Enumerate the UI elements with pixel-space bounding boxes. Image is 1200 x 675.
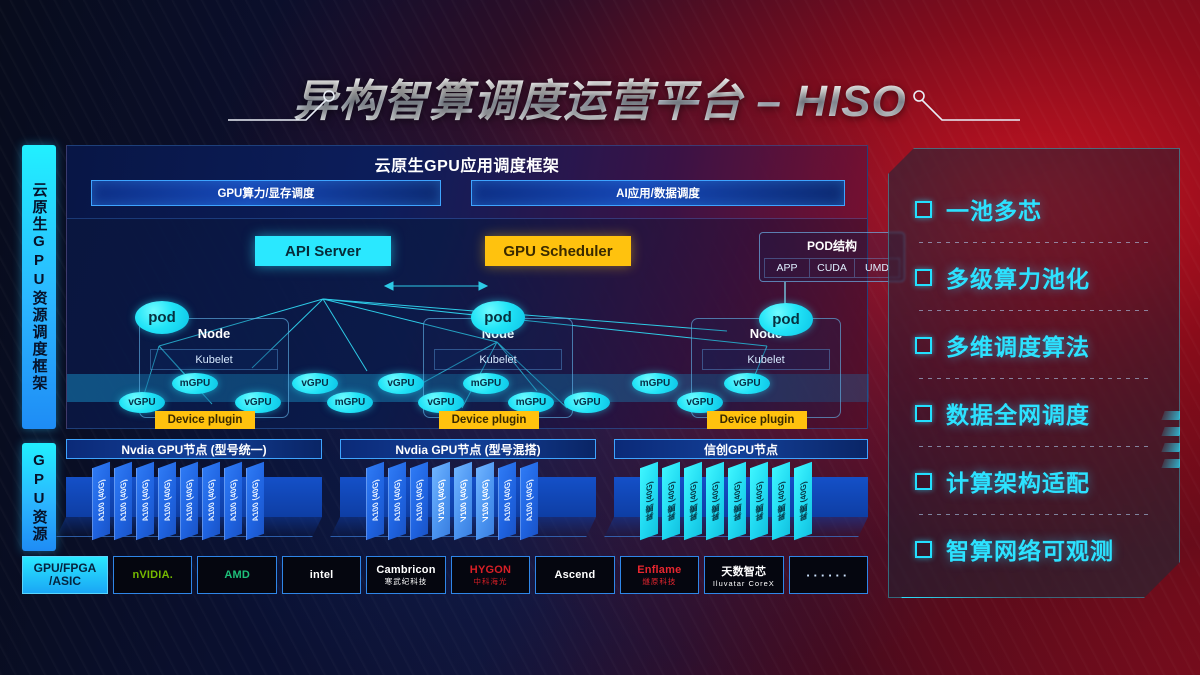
gpu-card[interactable]: V100 (40G)	[432, 462, 450, 541]
vendor-name: ······	[806, 568, 850, 583]
side-label-gpu-resources: GPU资源	[22, 443, 56, 551]
node1-gpu-1[interactable]: mGPU	[172, 373, 218, 394]
feature-label: 一池多芯	[946, 192, 1042, 226]
gpu-node-title-3: 信创GPU节点	[614, 439, 868, 459]
pod-cell-cuda: CUDA	[809, 258, 854, 278]
gpu-node-group-2: Nvdia GPU节点 (型号混搭) A100 (40G)A100 (40G)A…	[340, 439, 596, 555]
device-plugin-1[interactable]: Device plugin	[155, 411, 255, 429]
gpu-card[interactable]: 昇腾 (40G)	[684, 462, 702, 541]
gpu-card[interactable]: 昇腾 (40G)	[662, 462, 680, 541]
vendor-name: Cambricon	[376, 564, 435, 576]
vendor-logo-nvidia[interactable]: nVIDIA.	[113, 556, 192, 594]
gpu-card-label: A100 (40G)	[393, 478, 402, 523]
feature-item-1[interactable]: 一池多芯	[915, 175, 1179, 243]
pod-structure-title: POD结构	[760, 237, 904, 254]
gpu-card[interactable]: V100 (40G)	[454, 462, 472, 541]
feature-item-4[interactable]: 数据全网调度	[915, 379, 1179, 447]
feature-label: 智算网络可观测	[946, 532, 1114, 566]
gpu-card-label: V100 (40G)	[481, 479, 490, 524]
gpu-card-label: A100 (40G)	[525, 478, 534, 523]
gpu-card-label: A100 (40G)	[229, 478, 238, 523]
gpu-card-label: V100 (40G)	[459, 479, 468, 524]
features-list: 一池多芯多级算力池化多维调度算法数据全网调度计算架构适配智算网络可观测	[889, 149, 1179, 597]
api-server-box[interactable]: API Server	[255, 236, 391, 266]
feature-label: 多维调度算法	[946, 328, 1090, 362]
kubelet-2: Kubelet	[434, 349, 562, 370]
gpu-resource-row: Nvdia GPU节点 (型号统一) A100 (40G)A100 (40G)A…	[66, 439, 868, 555]
checkbox-square-icon	[915, 269, 932, 286]
node2-gpu-4[interactable]: vGPU	[564, 392, 610, 413]
device-plugin-2[interactable]: Device plugin	[439, 411, 539, 429]
gpu-card[interactable]: A100 (40G)	[202, 462, 220, 541]
kubelet-3: Kubelet	[702, 349, 830, 370]
framework-title: 云原生GPU应用调度框架	[67, 152, 867, 176]
vendor-logo-amd[interactable]: AMD	[197, 556, 276, 594]
feature-item-5[interactable]: 计算架构适配	[915, 447, 1179, 515]
node2-gpu-0[interactable]: vGPU	[378, 373, 424, 394]
vendor-logo-bar: GPU/FPGA /ASIC nVIDIA.AMDintelCambricon寒…	[22, 556, 868, 594]
cloud-native-framework-panel: 云原生GPU应用调度框架 GPU算力/显存调度 AI应用/数据调度	[66, 145, 868, 429]
checkbox-square-icon	[915, 201, 932, 218]
node1-gpu-4[interactable]: mGPU	[327, 392, 373, 413]
node2-gpu-2[interactable]: mGPU	[463, 373, 509, 394]
vendor-logo-enflame[interactable]: Enflame燧原科技	[620, 556, 699, 594]
vendor-name: nVIDIA.	[132, 569, 173, 581]
gpu-card-label: A100 (40G)	[207, 478, 216, 523]
node1-gpu-3[interactable]: vGPU	[292, 373, 338, 394]
gpu-card[interactable]: V100 (40G)	[476, 462, 494, 541]
gpu-card[interactable]: A100 (40G)	[136, 462, 154, 541]
pod-structure-box: POD结构 APP CUDA UMD	[759, 232, 905, 282]
gpu-scheduler-box[interactable]: GPU Scheduler	[485, 236, 631, 266]
feature-item-3[interactable]: 多维调度算法	[915, 311, 1179, 379]
vendor-subtitle: 寒武纪科技	[385, 576, 428, 587]
gpu-card-label: 昇腾 (40G)	[754, 480, 765, 523]
features-panel: 一池多芯多级算力池化多维调度算法数据全网调度计算架构适配智算网络可观测	[888, 148, 1180, 598]
vendor-category-line2: /ASIC	[49, 575, 81, 588]
gpu-card-label: A100 (40G)	[503, 478, 512, 523]
gpu-card[interactable]: A100 (40G)	[224, 462, 242, 541]
feature-label: 多级算力池化	[946, 260, 1090, 294]
kubelet-1: Kubelet	[150, 349, 278, 370]
vendor-name: Ascend	[554, 569, 595, 581]
feature-label: 数据全网调度	[946, 396, 1090, 430]
architecture-diagram: 云原生GPU资源调度框架 GPU资源 云原生GPU应用调度框架 GPU算力/显存…	[22, 143, 868, 598]
gpu-card[interactable]: A100 (40G)	[520, 462, 538, 541]
vendor-name: HYGON	[470, 564, 511, 576]
vendor-name: intel	[310, 569, 334, 581]
vendor-category-label: GPU/FPGA /ASIC	[22, 556, 108, 594]
gpu-card-label: A100 (40G)	[119, 478, 128, 523]
node2-gpu-1[interactable]: vGPU	[418, 392, 464, 413]
vendor-logo-iluvatar[interactable]: 天数智芯Iluvatar CoreX	[704, 556, 783, 594]
pod-3[interactable]: pod	[759, 303, 813, 336]
vendor-logo-ascend[interactable]: Ascend	[535, 556, 614, 594]
vendor-logo-intel[interactable]: intel	[282, 556, 361, 594]
gpu-card[interactable]: A100 (40G)	[92, 462, 110, 541]
gpu-card-label: A100 (40G)	[97, 478, 106, 523]
gpu-card-label: A100 (40G)	[371, 478, 380, 523]
node2-gpu-3[interactable]: mGPU	[508, 392, 554, 413]
checkbox-square-icon	[915, 405, 932, 422]
gpu-card[interactable]: 昇腾 (40G)	[640, 462, 658, 541]
gpu-card[interactable]: A100 (40G)	[498, 462, 516, 541]
gpu-card[interactable]: 昇腾 (40G)	[706, 462, 724, 541]
gpu-card[interactable]: A100 (40G)	[158, 462, 176, 541]
gpu-card-label: 昇腾 (40G)	[666, 480, 677, 523]
gpu-node-group-1: Nvdia GPU节点 (型号统一) A100 (40G)A100 (40G)A…	[66, 439, 322, 555]
vendor-subtitle: 燧原科技	[642, 576, 676, 587]
feature-item-2[interactable]: 多级算力池化	[915, 243, 1179, 311]
gpu-card[interactable]: 昇腾 (40G)	[728, 462, 746, 541]
feature-label: 计算架构适配	[946, 464, 1090, 498]
gpu-card-label: A100 (40G)	[141, 478, 150, 523]
checkbox-square-icon	[915, 473, 932, 490]
gpu-card-label: 昇腾 (40G)	[776, 480, 787, 523]
gpu-card[interactable]: 昇腾 (40G)	[794, 462, 812, 541]
node3-gpu-1[interactable]: vGPU	[677, 392, 723, 413]
vendor-name: AMD	[224, 569, 250, 581]
gpu-card-label: V100 (40G)	[437, 479, 446, 524]
node3-gpu-2[interactable]: vGPU	[724, 373, 770, 394]
gpu-node-title-1: Nvdia GPU节点 (型号统一)	[66, 439, 322, 459]
page-title: 异构智算调度运营平台 – HISO	[293, 65, 907, 129]
gpu-node-group-3: 信创GPU节点 昇腾 (40G)昇腾 (40G)昇腾 (40G)昇腾 (40G)…	[614, 439, 868, 555]
gpu-card-label: 昇腾 (40G)	[732, 480, 743, 523]
gpu-card[interactable]: A100 (40G)	[114, 462, 132, 541]
gpu-card[interactable]: A100 (40G)	[410, 462, 428, 541]
framework-header: 云原生GPU应用调度框架 GPU算力/显存调度 AI应用/数据调度	[67, 146, 867, 219]
vendor-logo-ellipsis[interactable]: ······	[789, 556, 868, 594]
gpu-node-title-2: Nvdia GPU节点 (型号混搭)	[340, 439, 596, 459]
gpu-card-label: 昇腾 (40G)	[688, 480, 699, 523]
checkbox-square-icon	[915, 337, 932, 354]
gpu-card[interactable]: A100 (40G)	[180, 462, 198, 541]
vendor-logo-cambricon[interactable]: Cambricon寒武纪科技	[366, 556, 445, 594]
vendor-name: Enflame	[637, 564, 681, 576]
gpu-card[interactable]: 昇腾 (40G)	[750, 462, 768, 541]
pod-cell-app: APP	[764, 258, 809, 278]
gpu-card-label: 昇腾 (40G)	[644, 480, 655, 523]
gpu-card-label: A100 (40G)	[163, 478, 172, 523]
gpu-card-label: 昇腾 (40G)	[710, 480, 721, 523]
gpu-card-label: A100 (40G)	[415, 478, 424, 523]
title-right-decoration	[900, 62, 1020, 132]
gpu-card-label: A100 (40G)	[251, 478, 260, 523]
gpu-cards-2: A100 (40G)A100 (40G)A100 (40G)V100 (40G)…	[366, 465, 538, 537]
gpu-card-label: 昇腾 (40G)	[798, 480, 809, 523]
panel-corner-accent	[1163, 411, 1181, 511]
gpu-card[interactable]: A100 (40G)	[246, 462, 264, 541]
vendor-logo-hygon[interactable]: HYGON中科海光	[451, 556, 530, 594]
gpu-cards-1: A100 (40G)A100 (40G)A100 (40G)A100 (40G)…	[92, 465, 264, 537]
gpu-cards-3: 昇腾 (40G)昇腾 (40G)昇腾 (40G)昇腾 (40G)昇腾 (40G)…	[640, 465, 812, 537]
node1-gpu-0[interactable]: vGPU	[119, 392, 165, 413]
pod-1[interactable]: pod	[135, 301, 189, 334]
node3-gpu-0[interactable]: mGPU	[632, 373, 678, 394]
pill-ai-app-data-scheduling[interactable]: AI应用/数据调度	[471, 180, 845, 206]
pod-2[interactable]: pod	[471, 301, 525, 334]
vendor-subtitle: 中科海光	[473, 576, 507, 587]
checkbox-square-icon	[915, 541, 932, 558]
gpu-card[interactable]: A100 (40G)	[366, 462, 384, 541]
title-bar: 异构智算调度运营平台 – HISO	[0, 62, 1200, 132]
node1-gpu-2[interactable]: vGPU	[235, 392, 281, 413]
vendor-subtitle: Iluvatar CoreX	[713, 579, 775, 588]
gpu-card[interactable]: 昇腾 (40G)	[772, 462, 790, 541]
pill-gpu-compute-memory-scheduling[interactable]: GPU算力/显存调度	[91, 180, 441, 206]
title-left-decoration	[228, 62, 348, 132]
feature-item-6[interactable]: 智算网络可观测	[915, 515, 1179, 583]
vendor-name: 天数智芯	[721, 563, 766, 579]
gpu-card[interactable]: A100 (40G)	[388, 462, 406, 541]
side-label-framework: 云原生GPU资源调度框架	[22, 145, 56, 429]
gpu-card-label: A100 (40G)	[185, 478, 194, 523]
device-plugin-3[interactable]: Device plugin	[707, 411, 807, 429]
